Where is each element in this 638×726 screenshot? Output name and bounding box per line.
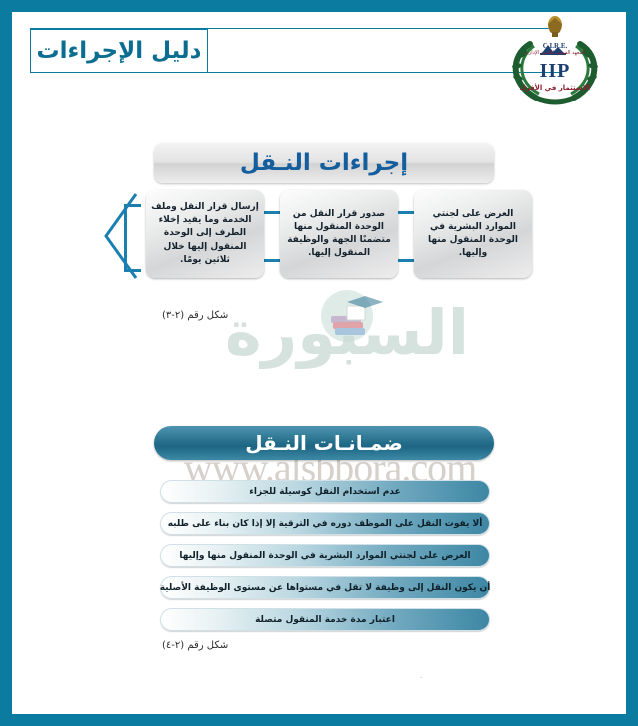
guarantee-item: اعتبار مدة خدمة المنقول متصلة: [160, 608, 490, 631]
page-speck: .: [420, 672, 422, 680]
guarantees-figure-caption: شكل رقم (٢-٤): [162, 640, 228, 651]
guarantee-item-text: ألا يفوت النقل على الموظف دوره في الترقي…: [168, 519, 483, 529]
guarantee-item: عدم استخدام النقل كوسيلة للجزاء: [160, 480, 490, 503]
guarantees-title-banner: ضمـانـات النـقل: [154, 426, 494, 460]
guarantee-item-text: العرض على لجنتي الموارد البشرية في الوحد…: [179, 551, 470, 561]
guarantee-item-text: عدم استخدام النقل كوسيلة للجزاء: [249, 487, 400, 497]
guarantee-item: العرض على لجنتي الموارد البشرية في الوحد…: [160, 544, 490, 567]
page-frame: دليل الإجراءات: [12, 12, 626, 714]
guarantee-item: أن يكون النقل إلى وظيفة لا تقل في مستواه…: [160, 576, 490, 599]
guarantee-item-text: أن يكون النقل إلى وظيفة لا تقل في مستواه…: [160, 583, 491, 593]
guarantees-title: ضمـانـات النـقل: [245, 431, 403, 455]
guarantee-item-text: اعتبار مدة خدمة المنقول متصلة: [255, 615, 395, 625]
guarantee-item: ألا يفوت النقل على الموظف دوره في الترقي…: [160, 512, 490, 535]
guarantees-section: ضمـانـات النـقل عدم استخدام النقل كوسيلة…: [12, 12, 626, 652]
